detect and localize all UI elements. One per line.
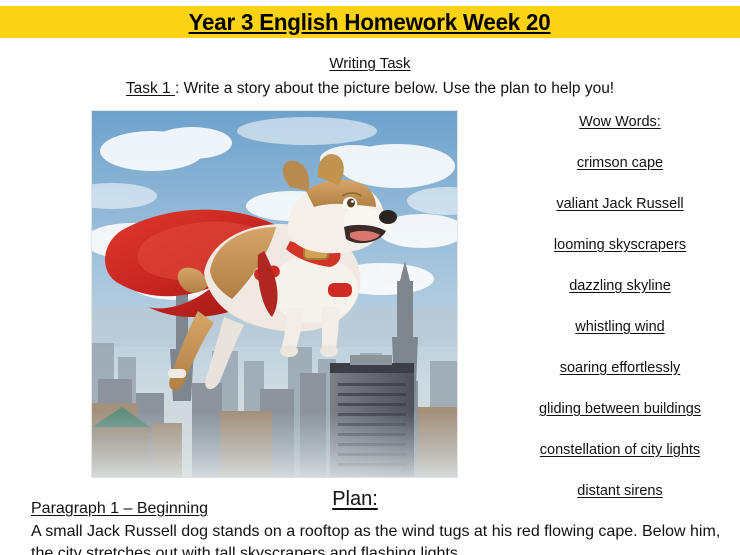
superhero-dog-illustration [92, 111, 457, 477]
task-instruction-line: Task 1 : Write a story about the picture… [0, 80, 740, 98]
wow-word-item: gliding between buildings [500, 401, 740, 417]
task-number-label: Task 1 [126, 80, 175, 97]
paragraph-1-line-1: A small Jack Russell dog stands on a roo… [31, 523, 594, 540]
wow-word-item: soaring effortlessly [500, 360, 740, 376]
wow-words-heading: Wow Words: [500, 114, 740, 130]
worksheet-page: Year 3 English Homework Week 20 Writing … [0, 0, 740, 555]
page-title: Year 3 English Homework Week 20 [189, 9, 551, 36]
wow-word-item: valiant Jack Russell [500, 196, 740, 212]
page-title-banner: Year 3 English Homework Week 20 [0, 6, 740, 38]
plan-heading: Plan: [255, 488, 455, 511]
task-instruction-text: : Write a story about the picture below.… [175, 80, 614, 97]
wow-word-item: distant sirens [500, 483, 740, 499]
wow-word-item: constellation of city lights [500, 442, 740, 458]
writing-task-heading-label: Writing Task [329, 55, 410, 72]
wow-word-item: dazzling skyline [500, 278, 740, 294]
writing-task-heading: Writing Task [0, 55, 740, 72]
wow-word-item: crimson cape [500, 155, 740, 171]
story-picture [92, 111, 457, 477]
paragraph-1-heading: Paragraph 1 – Beginning [31, 500, 208, 518]
paragraph-1-body: A small Jack Russell dog stands on a roo… [31, 521, 721, 555]
wow-word-item: looming skyscrapers [500, 237, 740, 253]
wow-word-item: whistling wind [500, 319, 740, 335]
wow-words-list: Wow Words: crimson cape valiant Jack Rus… [500, 114, 740, 524]
